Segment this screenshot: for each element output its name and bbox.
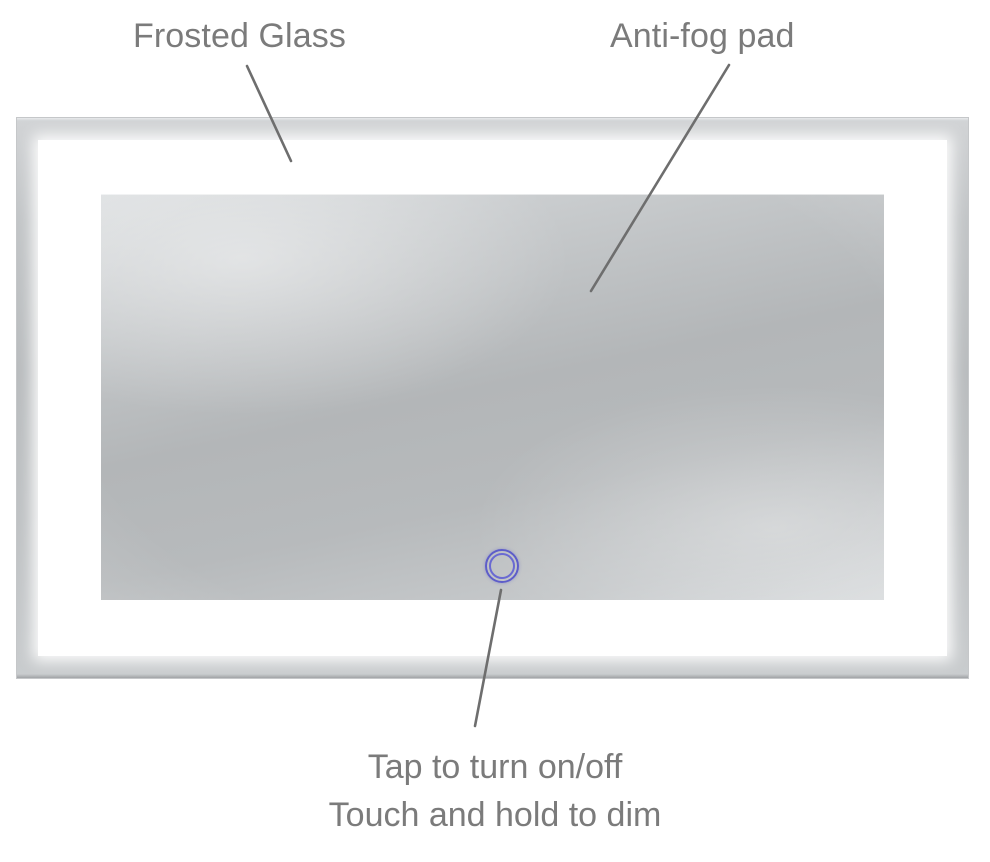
instruction-tap-on-off: Tap to turn on/off	[0, 743, 990, 791]
anti-fog-mirror-panel	[101, 194, 884, 600]
diagram-canvas: Frosted Glass Anti-fog pad Tap to turn o…	[0, 0, 990, 862]
instruction-hold-to-dim: Touch and hold to dim	[0, 791, 990, 839]
touch-sensor-instructions: Tap to turn on/off Touch and hold to dim	[0, 743, 990, 839]
touch-sensor-ring-icon[interactable]	[485, 549, 519, 583]
callout-label-frosted-glass: Frosted Glass	[133, 17, 346, 56]
callout-label-anti-fog-pad: Anti-fog pad	[610, 17, 795, 56]
led-mirror	[17, 118, 968, 678]
mirror-outer-frame	[17, 118, 968, 678]
